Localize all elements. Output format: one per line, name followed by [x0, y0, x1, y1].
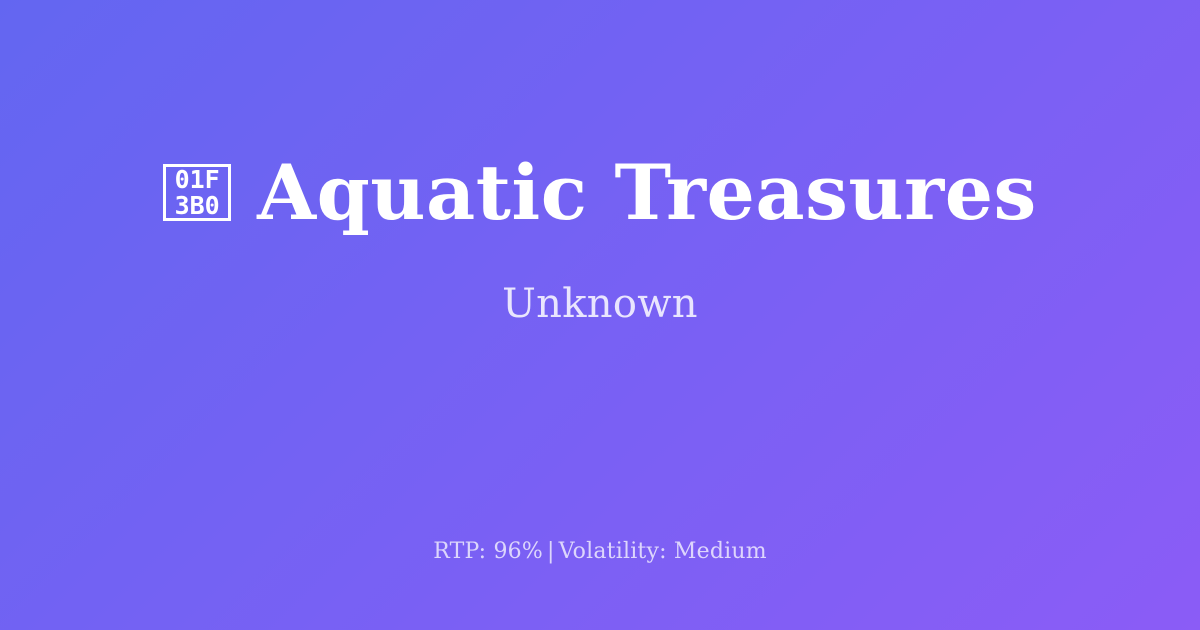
- rtp-stat: RTP: 96%: [433, 539, 543, 564]
- provider-label: Unknown: [502, 281, 698, 327]
- volatility-stat: Volatility: Medium: [559, 539, 767, 564]
- slot-machine-icon: 01F 3B0: [163, 164, 231, 221]
- tofu-codepoint-top: 01F: [175, 167, 220, 193]
- game-stats: RTP: 96%|Volatility: Medium: [433, 539, 767, 564]
- page-title: Aquatic Treasures: [257, 155, 1037, 231]
- hero-section: 01F 3B0 Aquatic Treasures Unknown: [0, 0, 1200, 539]
- tofu-codepoint-bottom: 3B0: [175, 193, 220, 219]
- title-row: 01F 3B0 Aquatic Treasures: [163, 155, 1037, 231]
- stats-separator: |: [543, 539, 559, 564]
